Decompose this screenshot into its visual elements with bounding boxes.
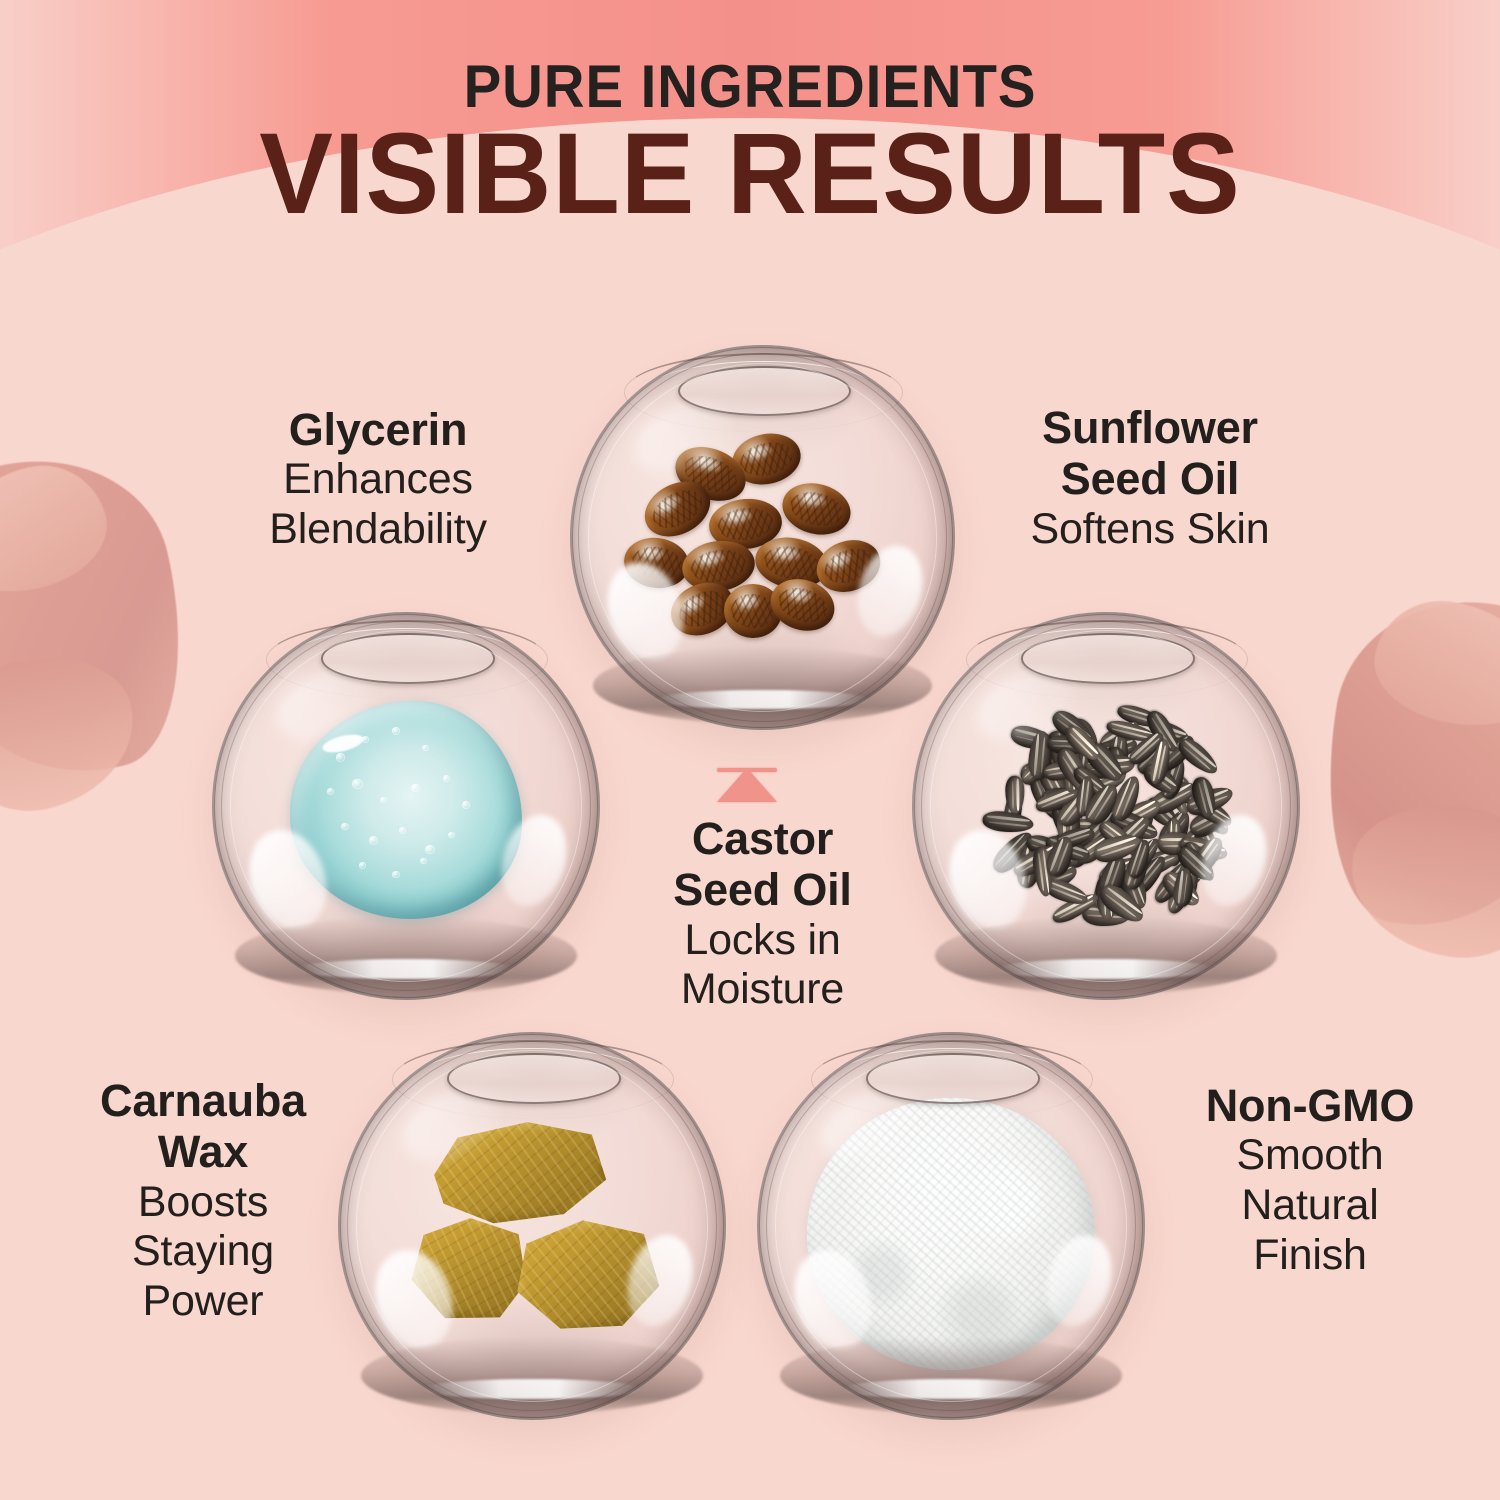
ingredient-label-glycerin: Glycerin Enhances Blendability bbox=[178, 404, 578, 555]
ingredient-benefit-line: Softens Skin bbox=[955, 505, 1345, 555]
ingredient-title: Wax bbox=[38, 1126, 368, 1177]
ingredient-benefit-line: Smooth bbox=[1150, 1131, 1470, 1181]
ingredient-benefit-line: Boosts bbox=[38, 1178, 368, 1228]
ingredient-benefit-line: Natural bbox=[1150, 1181, 1470, 1231]
ingredient-sphere-sunflower-seed-oil bbox=[912, 612, 1300, 1000]
ingredient-title: Non-GMO bbox=[1150, 1080, 1470, 1131]
ingredient-title: Carnauba bbox=[38, 1075, 368, 1126]
ingredient-benefit-line: Finish bbox=[1150, 1231, 1470, 1281]
headline-secondary: VISIBLE RESULTS bbox=[30, 112, 1470, 236]
triangle-pointer-icon bbox=[717, 768, 777, 802]
ingredient-label-non-gmo: Non-GMO Smooth Natural Finish bbox=[1150, 1080, 1470, 1281]
ingredient-benefit-line: Blendability bbox=[178, 505, 578, 555]
ingredient-sphere-non-gmo bbox=[757, 1032, 1145, 1420]
ingredient-title: Glycerin bbox=[178, 404, 578, 455]
ingredient-benefit-line: Enhances bbox=[178, 455, 578, 505]
ingredient-sphere-glycerin bbox=[212, 612, 600, 1000]
ingredient-label-sunflower-seed-oil: Sunflower Seed Oil Softens Skin bbox=[955, 402, 1345, 554]
ingredient-benefit-line: Locks in bbox=[625, 916, 900, 966]
ingredient-sphere-carnauba-wax bbox=[338, 1032, 726, 1420]
ingredient-title: Sunflower bbox=[955, 402, 1345, 453]
ingredient-title: Seed Oil bbox=[625, 864, 900, 915]
ingredient-sphere-castor-seed-oil bbox=[570, 345, 955, 730]
ingredient-title: Castor bbox=[625, 813, 900, 864]
infographic-canvas: PURE INGREDIENTS VISIBLE RESULTS bbox=[0, 0, 1500, 1500]
ingredient-benefit-line: Moisture bbox=[625, 965, 900, 1015]
ingredient-benefit-line: Staying bbox=[38, 1227, 368, 1277]
ingredient-benefit-line: Power bbox=[38, 1277, 368, 1327]
ingredient-label-castor-seed-oil: Castor Seed Oil Locks in Moisture bbox=[625, 813, 900, 1015]
ingredient-title: Seed Oil bbox=[955, 453, 1345, 504]
ingredient-label-carnauba-wax: Carnauba Wax Boosts Staying Power bbox=[38, 1075, 368, 1327]
